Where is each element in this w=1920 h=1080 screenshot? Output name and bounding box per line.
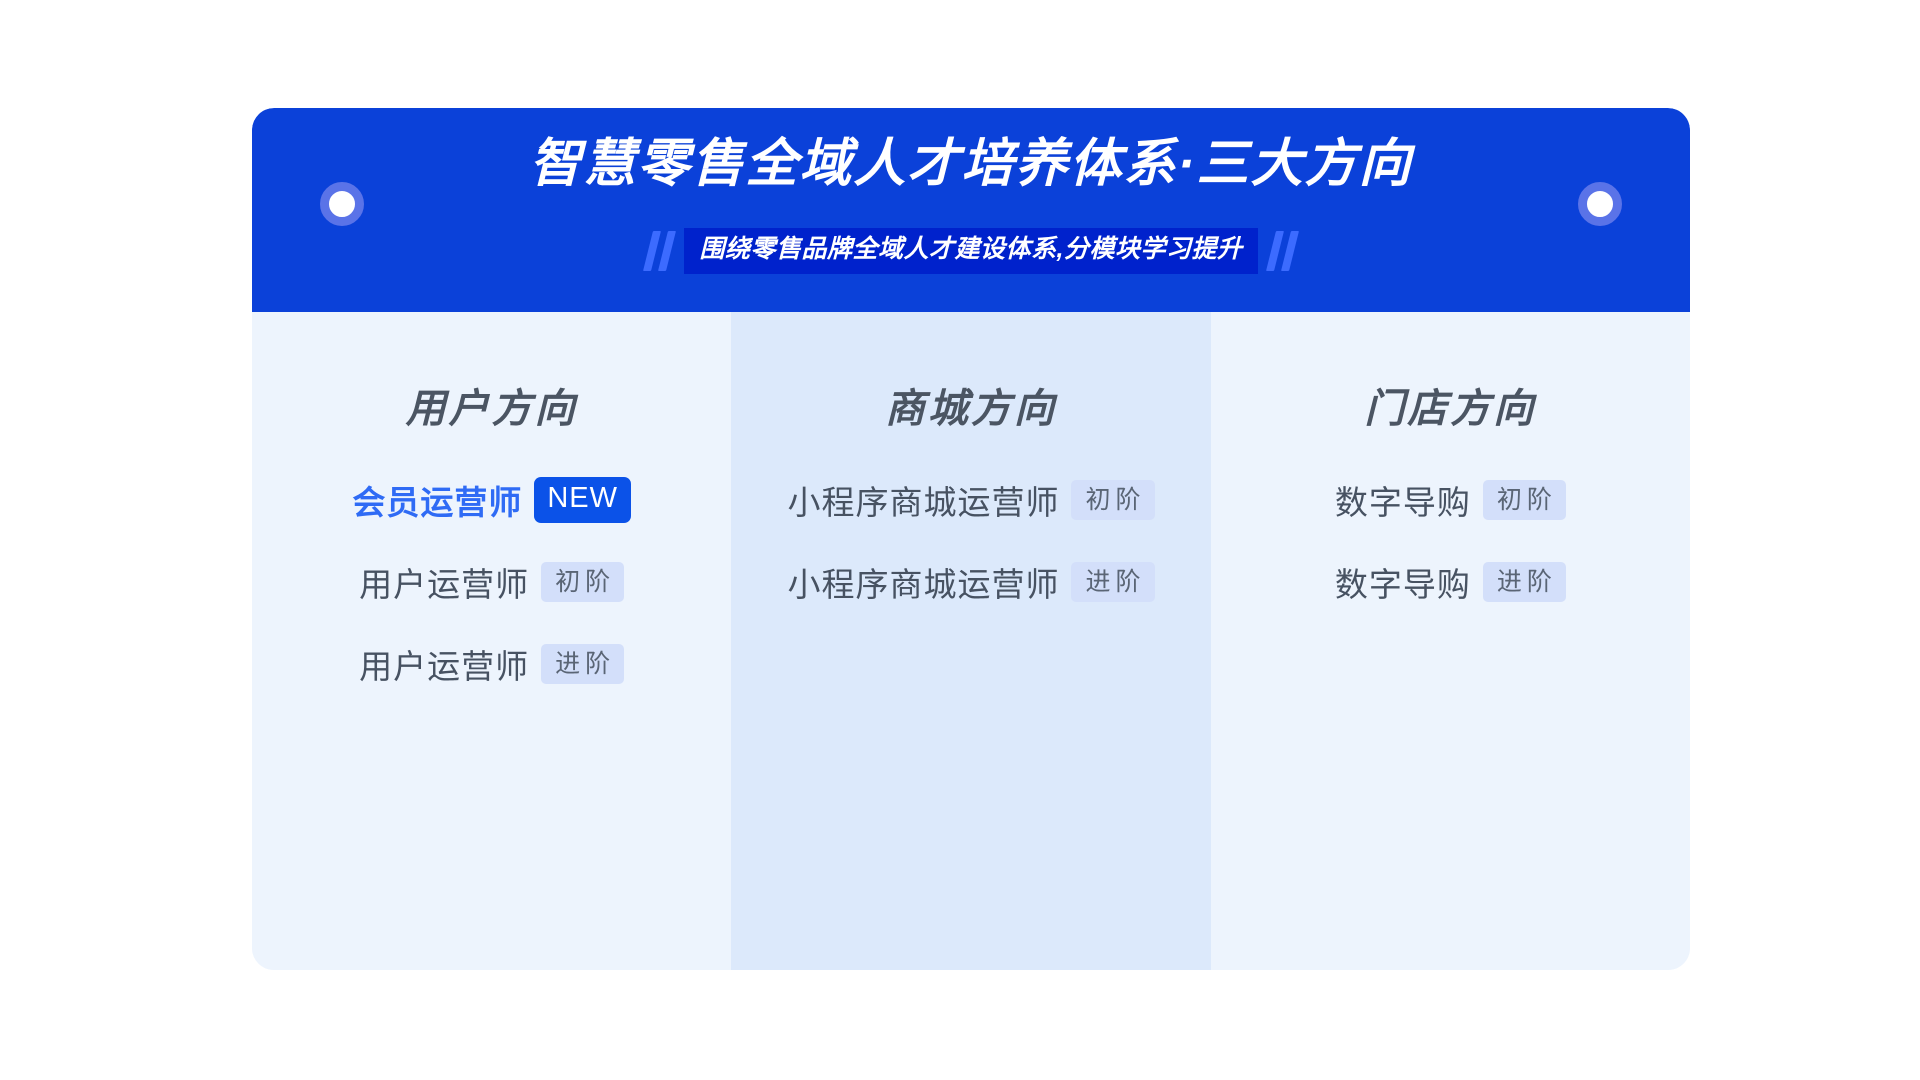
level-badge: 进阶 (1071, 562, 1154, 603)
page-canvas: 智慧零售全域人才培养体系·三大方向 围绕零售品牌全域人才建设体系,分模块学习提升… (0, 0, 1920, 1080)
slash-icon (658, 231, 676, 271)
course-label: 会员运营师 (352, 476, 522, 524)
column-mall-direction: 商城方向 小程序商城运营师 初阶 小程序商城运营师 进阶 (731, 312, 1210, 970)
level-badge: 初阶 (1071, 480, 1154, 521)
page-title: 智慧零售全域人才培养体系·三大方向 (252, 136, 1690, 193)
column-store-direction: 门店方向 数字导购 初阶 数字导购 进阶 (1211, 312, 1690, 970)
talent-system-panel: 智慧零售全域人才培养体系·三大方向 围绕零售品牌全域人才建设体系,分模块学习提升… (252, 108, 1690, 970)
course-list: 小程序商城运营师 初阶 小程序商城运营师 进阶 (731, 472, 1210, 610)
list-item[interactable]: 小程序商城运营师 进阶 (787, 554, 1154, 610)
panel-header: 智慧零售全域人才培养体系·三大方向 围绕零售品牌全域人才建设体系,分模块学习提升 (252, 108, 1690, 312)
subtitle-row: 围绕零售品牌全域人才建设体系,分模块学习提升 (252, 228, 1690, 274)
list-item[interactable]: 用户运营师 进阶 (359, 636, 624, 692)
level-badge: 进阶 (1483, 562, 1566, 603)
slash-marks-right-icon (1258, 231, 1307, 271)
level-badge: 初阶 (541, 562, 624, 603)
direction-columns: 用户方向 会员运营师 NEW 用户运营师 初阶 用户运营师 进阶 (252, 312, 1690, 970)
column-title: 门店方向 (1211, 376, 1690, 434)
slash-marks-left-icon (635, 231, 684, 271)
level-badge: 初阶 (1483, 480, 1566, 521)
course-list: 数字导购 初阶 数字导购 进阶 (1211, 472, 1690, 610)
course-label: 用户运营师 (359, 640, 529, 688)
course-label: 数字导购 (1335, 558, 1471, 606)
course-label: 用户运营师 (359, 558, 529, 606)
course-label: 数字导购 (1335, 476, 1471, 524)
slash-icon (1281, 231, 1299, 271)
level-badge: 进阶 (541, 644, 624, 685)
list-item[interactable]: 小程序商城运营师 初阶 (787, 472, 1154, 528)
course-label: 小程序商城运营师 (787, 558, 1059, 606)
course-list: 会员运营师 NEW 用户运营师 初阶 用户运营师 进阶 (252, 472, 731, 692)
status-badge-new: NEW (534, 477, 631, 523)
page-subtitle: 围绕零售品牌全域人才建设体系,分模块学习提升 (684, 228, 1259, 274)
list-item[interactable]: 数字导购 进阶 (1335, 554, 1566, 610)
course-label: 小程序商城运营师 (787, 476, 1059, 524)
list-item[interactable]: 用户运营师 初阶 (359, 554, 624, 610)
list-item[interactable]: 数字导购 初阶 (1335, 472, 1566, 528)
slash-icon (643, 231, 661, 271)
column-user-direction: 用户方向 会员运营师 NEW 用户运营师 初阶 用户运营师 进阶 (252, 312, 731, 970)
column-title: 用户方向 (252, 376, 731, 434)
column-title: 商城方向 (731, 376, 1210, 434)
list-item[interactable]: 会员运营师 NEW (352, 472, 631, 528)
